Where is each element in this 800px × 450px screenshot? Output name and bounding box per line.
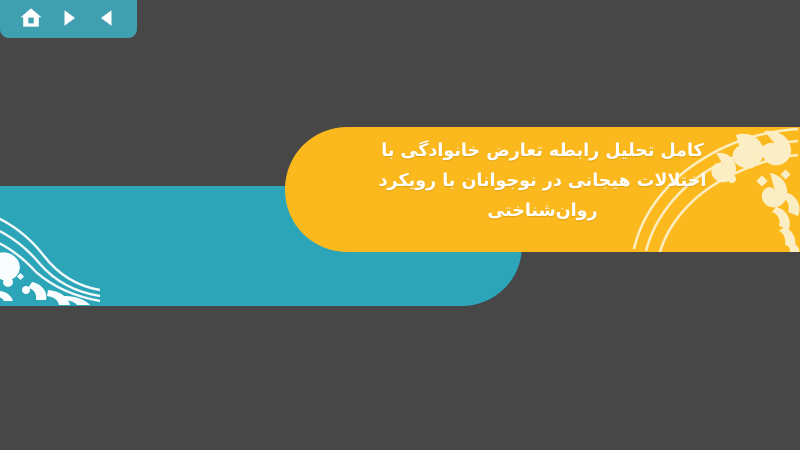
slide-canvas: کامل تحلیل رابطه تعارض خانوادگی با اختلا… <box>0 0 800 450</box>
back-button[interactable] <box>94 5 120 31</box>
navigation-toolbar <box>0 0 137 38</box>
back-icon <box>96 7 118 29</box>
arabesque-ornament-icon <box>0 186 100 306</box>
home-button[interactable] <box>18 5 44 31</box>
home-icon <box>19 6 43 30</box>
forward-icon <box>58 7 80 29</box>
slide-title: کامل تحلیل رابطه تعارض خانوادگی با اختلا… <box>285 127 800 226</box>
forward-button[interactable] <box>56 5 82 31</box>
title-panel: کامل تحلیل رابطه تعارض خانوادگی با اختلا… <box>285 127 800 252</box>
